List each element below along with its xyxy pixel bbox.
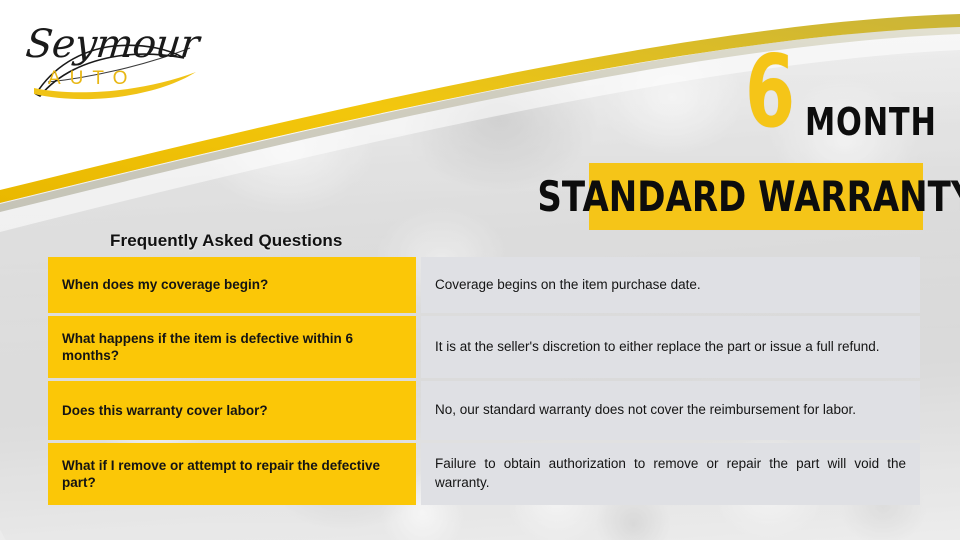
- warranty-slide: Seymour AUTO 6 MONTH STANDARD WARRANTY F…: [0, 0, 960, 540]
- seymour-auto-logo[interactable]: Seymour AUTO: [18, 16, 218, 108]
- faq-table: When does my coverage begin? Coverage be…: [48, 257, 920, 505]
- logo-auto-text: AUTO: [48, 68, 136, 90]
- standard-warranty-banner: STANDARD WARRANTY: [589, 163, 923, 230]
- faq-heading: Frequently Asked Questions: [110, 231, 342, 251]
- faq-answer: Coverage begins on the item purchase dat…: [421, 257, 920, 313]
- faq-answer: It is at the seller's discretion to eith…: [421, 316, 920, 378]
- duration-headline: 6 MONTH: [735, 48, 935, 148]
- table-row: When does my coverage begin? Coverage be…: [48, 257, 920, 313]
- faq-question: What if I remove or attempt to repair th…: [48, 443, 416, 505]
- faq-answer: Failure to obtain authorization to remov…: [421, 443, 920, 505]
- faq-question: What happens if the item is defective wi…: [48, 316, 416, 378]
- faq-question: Does this warranty cover labor?: [48, 381, 416, 440]
- faq-question: When does my coverage begin?: [48, 257, 416, 313]
- duration-unit: MONTH: [805, 103, 937, 141]
- duration-number: 6: [745, 42, 795, 142]
- table-row: What happens if the item is defective wi…: [48, 316, 920, 378]
- table-row: What if I remove or attempt to repair th…: [48, 443, 920, 505]
- standard-warranty-title: STANDARD WARRANTY: [537, 176, 960, 218]
- logo-script-text: Seymour: [24, 22, 201, 67]
- table-row: Does this warranty cover labor? No, our …: [48, 381, 920, 440]
- faq-answer: No, our standard warranty does not cover…: [421, 381, 920, 440]
